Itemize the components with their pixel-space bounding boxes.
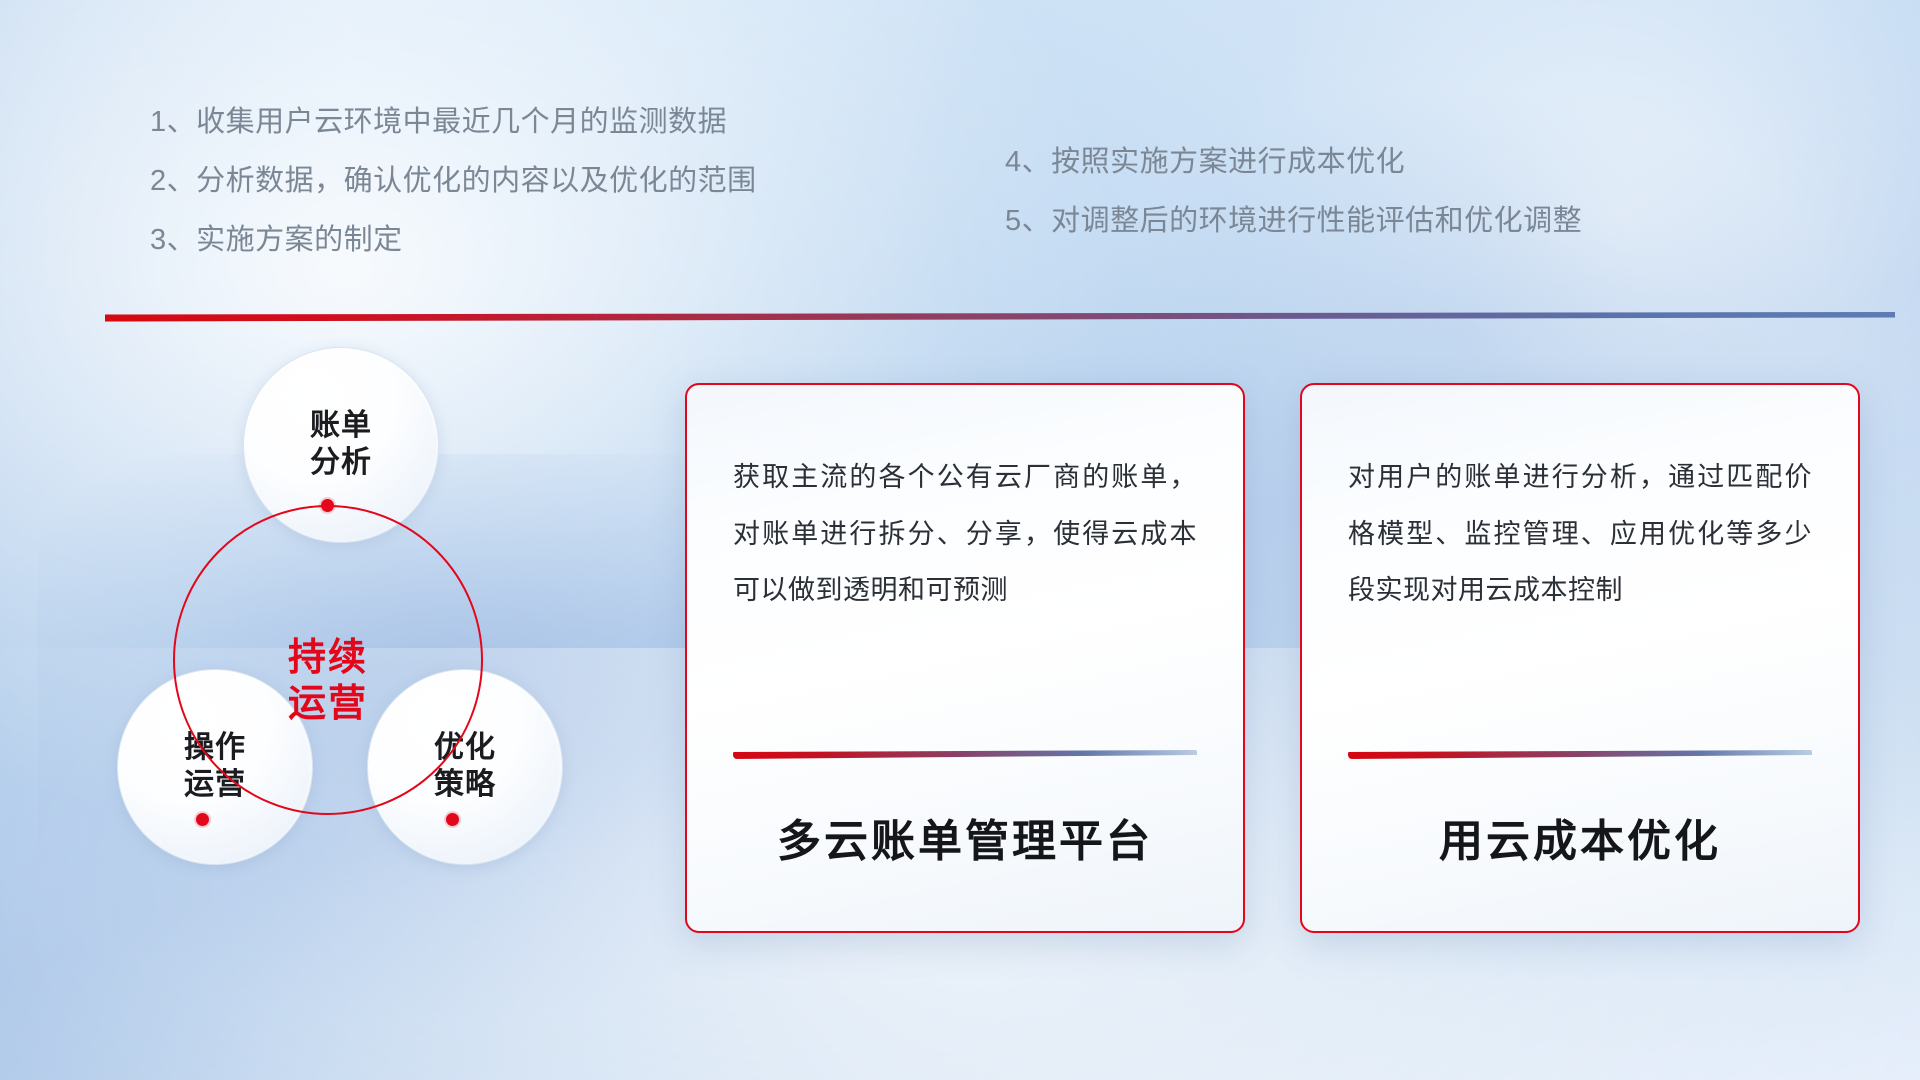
card-cloud-cost-optimization-body: 对用户的账单进行分析，通过匹配价格模型、监控管理、应用优化等多少段实现对用云成本… (1348, 449, 1812, 619)
step-item-2: 2、分析数据，确认优化的内容以及优化的范围 (150, 167, 910, 196)
venn-node-bill-analysis-label: 账单 分析 (310, 408, 372, 481)
continuous-operation-diagram: 账单 分析 操作 运营 优化 策略 持续 运营 (95, 335, 655, 955)
section-divider (105, 312, 1895, 322)
steps-right-column: 4、按照实施方案进行成本优化 5、对调整后的环境进行性能评估和优化调整 (1005, 148, 1805, 236)
venn-center-label: 持续 运营 (288, 636, 368, 727)
step-item-4: 4、按照实施方案进行成本优化 (1005, 148, 1805, 177)
steps-left-column: 1、收集用户云环境中最近几个月的监测数据 2、分析数据，确认优化的内容以及优化的… (150, 108, 910, 255)
venn-dot-left (196, 813, 209, 826)
venn-dot-right (446, 813, 459, 826)
card-multi-cloud-billing-title: 多云账单管理平台 (733, 805, 1197, 931)
venn-dot-top (321, 499, 334, 512)
step-item-1: 1、收集用户云环境中最近几个月的监测数据 (150, 108, 910, 137)
card-multi-cloud-billing-rule (733, 750, 1197, 759)
card-multi-cloud-billing-body: 获取主流的各个公有云厂商的账单，对账单进行拆分、分享，使得云成本可以做到透明和可… (733, 449, 1197, 619)
step-item-5: 5、对调整后的环境进行性能评估和优化调整 (1005, 207, 1805, 236)
venn-center-circle: 持续 运营 (173, 505, 483, 815)
card-cloud-cost-optimization-rule (1348, 750, 1812, 759)
card-cloud-cost-optimization-title: 用云成本优化 (1348, 805, 1812, 931)
card-cloud-cost-optimization[interactable]: 对用户的账单进行分析，通过匹配价格模型、监控管理、应用优化等多少段实现对用云成本… (1300, 383, 1860, 933)
card-multi-cloud-billing[interactable]: 获取主流的各个公有云厂商的账单，对账单进行拆分、分享，使得云成本可以做到透明和可… (685, 383, 1245, 933)
step-item-3: 3、实施方案的制定 (150, 226, 910, 255)
